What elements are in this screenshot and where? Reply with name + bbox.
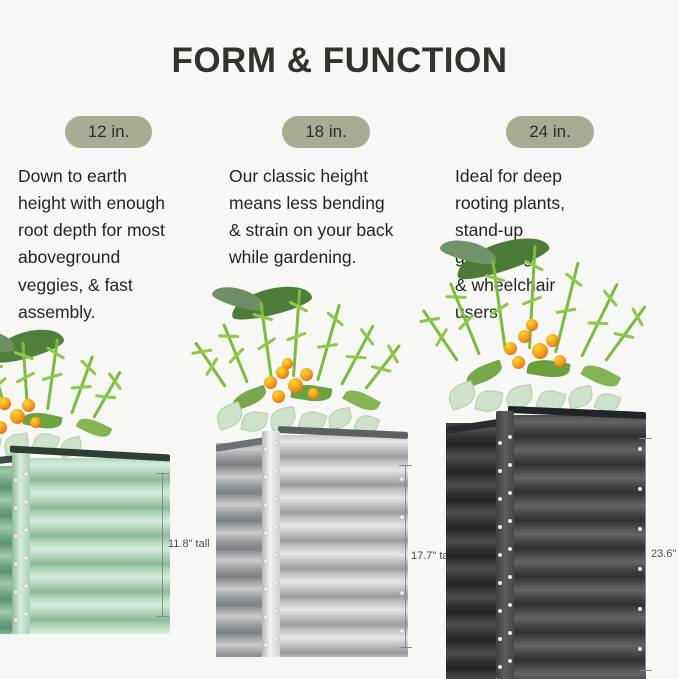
bed-front-panel-18in (280, 435, 408, 657)
dimension-cap-bottom-18in (399, 647, 412, 648)
rivet-column-left-24in (498, 411, 503, 679)
rivet-column-right-18in (274, 431, 279, 657)
height-badge-18in: 18 in. (282, 116, 370, 148)
dimension-cap-bottom-24in (639, 670, 652, 671)
rivet-column-right-12in (24, 454, 29, 634)
feature-description-24in: Ideal for deep rooting plants, stand-up … (455, 163, 655, 326)
height-badge-24in: 24 in. (506, 116, 594, 148)
feature-column-18in: 18 in. Our classic height means less ben… (229, 116, 429, 272)
bed-side-panel-18in (216, 443, 262, 657)
rivet-column-far-24in (638, 417, 643, 679)
rivet-column-left-12in (14, 454, 19, 634)
feature-column-24in: 24 in. Ideal for deep rooting plants, st… (455, 116, 655, 326)
dimension-cap-bottom-12in (156, 616, 169, 617)
garden-bed-18in (216, 431, 408, 657)
height-badge-12in: 12 in. (65, 116, 153, 148)
bed-side-panel-12in (0, 466, 12, 634)
bed-body-24in (446, 411, 646, 679)
dimension-label-12in: 11.8" tall (168, 538, 210, 550)
rivet-column-left-18in (264, 431, 269, 657)
garden-bed-12in (0, 454, 170, 634)
dimension-cap-top-24in (639, 438, 652, 439)
product-photo-row: 11.8" tall (0, 330, 679, 679)
feature-description-12in: Down to earth height with enough root de… (18, 163, 223, 326)
feature-column-12in: 12 in. Down to earth height with enough … (18, 116, 223, 326)
bed-body-12in (0, 454, 170, 634)
garden-bed-24in (446, 411, 646, 679)
dimension-line-12in (162, 473, 163, 616)
dimension-line-18in (405, 465, 406, 647)
bed-side-panel-24in (446, 423, 496, 679)
dimension-cap-top-12in (156, 473, 169, 474)
bed-front-panel-24in (510, 415, 646, 679)
feature-description-18in: Our classic height means less bending & … (229, 163, 429, 272)
badge-wrap-24in: 24 in. (455, 116, 655, 148)
dimension-cap-top-18in (399, 465, 412, 466)
badge-wrap-18in: 18 in. (229, 116, 429, 148)
bed-front-panel-12in (12, 458, 170, 634)
badge-wrap-12in: 12 in. (18, 116, 223, 148)
feature-columns: 12 in. Down to earth height with enough … (0, 116, 679, 326)
dimension-label-24in: 23.6" tall (651, 548, 679, 560)
bed-body-18in (216, 431, 408, 657)
dimension-line-24in (645, 438, 646, 670)
rivet-column-right-24in (508, 411, 513, 679)
page-title: FORM & FUNCTION (0, 42, 679, 81)
